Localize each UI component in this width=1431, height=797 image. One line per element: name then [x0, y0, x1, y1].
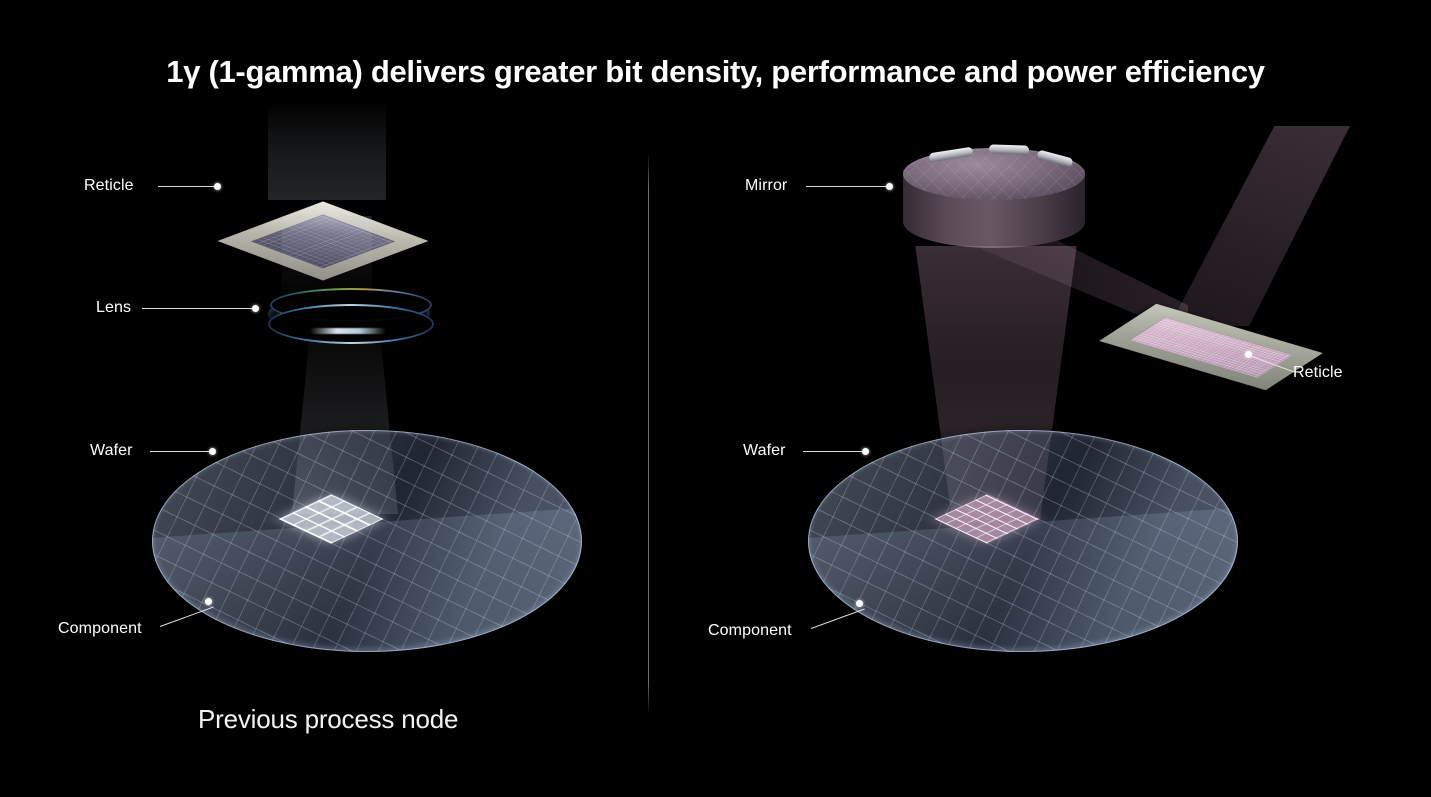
leader-dot-wafer-right: [862, 448, 869, 455]
leader-dot-reticle-left: [214, 183, 221, 190]
lens-rim-bottom: [268, 304, 434, 344]
leader-dot-component-left: [205, 598, 212, 605]
reticle-pattern: [1130, 317, 1293, 378]
reticle-left-graphic: [232, 150, 470, 222]
panel-previous-process-node: Reticle Lens Wafer Component Previous pr…: [0, 0, 648, 797]
reticle-plate: [1099, 304, 1323, 390]
leader-line-mirror: [806, 186, 888, 187]
panel-1gamma-process-node: Mirror Reticle Wafer Component 1γ (1-gam…: [648, 0, 1431, 797]
leader-dot-wafer-left: [209, 448, 216, 455]
reticle-right-graphic: [1103, 292, 1333, 374]
callout-label-reticle-right: Reticle: [1293, 364, 1343, 382]
exposure-field-left: [292, 480, 400, 544]
caption-previous-process-node: Previous process node: [198, 704, 458, 735]
callout-label-component-left: Component: [58, 620, 142, 638]
callout-label-lens: Lens: [96, 299, 131, 317]
lens-glint: [310, 328, 386, 334]
mirror-graphic: [903, 148, 1085, 258]
callout-label-mirror: Mirror: [745, 177, 787, 195]
leader-line-wafer-right: [803, 451, 865, 452]
leader-dot-component-right: [856, 600, 863, 607]
exposure-field-right: [948, 480, 1056, 544]
leader-dot-lens: [252, 305, 259, 312]
callout-label-reticle-left: Reticle: [84, 177, 134, 195]
leader-dot-mirror: [886, 183, 893, 190]
leader-dot-reticle-right: [1245, 351, 1252, 358]
callout-label-component-right: Component: [708, 622, 792, 640]
leader-line-reticle-left: [158, 186, 216, 187]
infographic-canvas: 1γ (1-gamma) delivers greater bit densit…: [0, 0, 1431, 797]
beam-reticle-to-lens: [282, 216, 372, 292]
leader-line-wafer-left: [150, 451, 212, 452]
callout-label-wafer-right: Wafer: [743, 442, 786, 460]
callout-label-wafer-left: Wafer: [90, 442, 133, 460]
leader-line-lens: [142, 308, 254, 309]
mirror-clip: [989, 144, 1029, 154]
exposure-grid: [279, 494, 384, 543]
lens-graphic: [268, 288, 430, 344]
exposure-grid: [935, 494, 1040, 543]
